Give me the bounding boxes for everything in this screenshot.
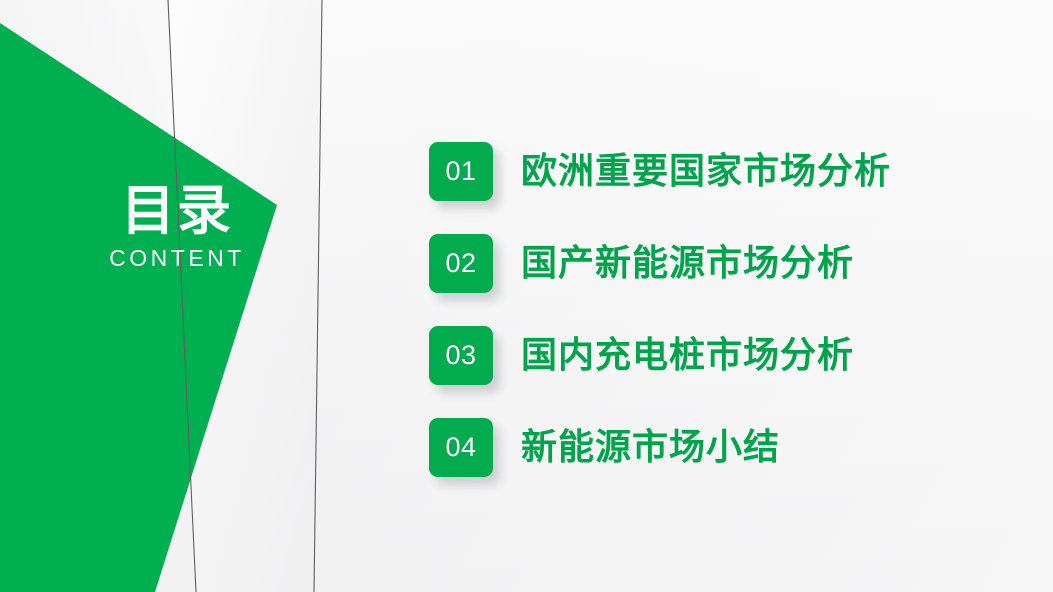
agenda-number-badge-02: 02 (429, 234, 493, 293)
agenda-number-badge-03: 03 (429, 326, 493, 385)
title-block: 目录 CONTENT (62, 183, 292, 271)
agenda-label-02: 国产新能源市场分析 (521, 245, 854, 281)
page-title: 目录 (62, 183, 292, 240)
agenda-item-04[interactable]: 04 新能源市场小结 (429, 415, 891, 479)
agenda-list: 01 欧洲重要国家市场分析 02 国产新能源市场分析 03 国内充电桩市场分析 … (429, 139, 891, 479)
agenda-number-badge-01: 01 (429, 142, 493, 201)
agenda-item-01[interactable]: 01 欧洲重要国家市场分析 (429, 139, 891, 203)
page-subtitle: CONTENT (62, 246, 292, 271)
agenda-label-01: 欧洲重要国家市场分析 (521, 153, 891, 189)
agenda-label-04: 新能源市场小结 (521, 429, 780, 465)
agenda-number-badge-04: 04 (429, 418, 493, 477)
presentation-slide: 目录 CONTENT 01 欧洲重要国家市场分析 02 国产新能源市场分析 03… (0, 0, 1053, 592)
agenda-label-03: 国内充电桩市场分析 (521, 337, 854, 373)
agenda-item-02[interactable]: 02 国产新能源市场分析 (429, 231, 891, 295)
agenda-item-03[interactable]: 03 国内充电桩市场分析 (429, 323, 891, 387)
